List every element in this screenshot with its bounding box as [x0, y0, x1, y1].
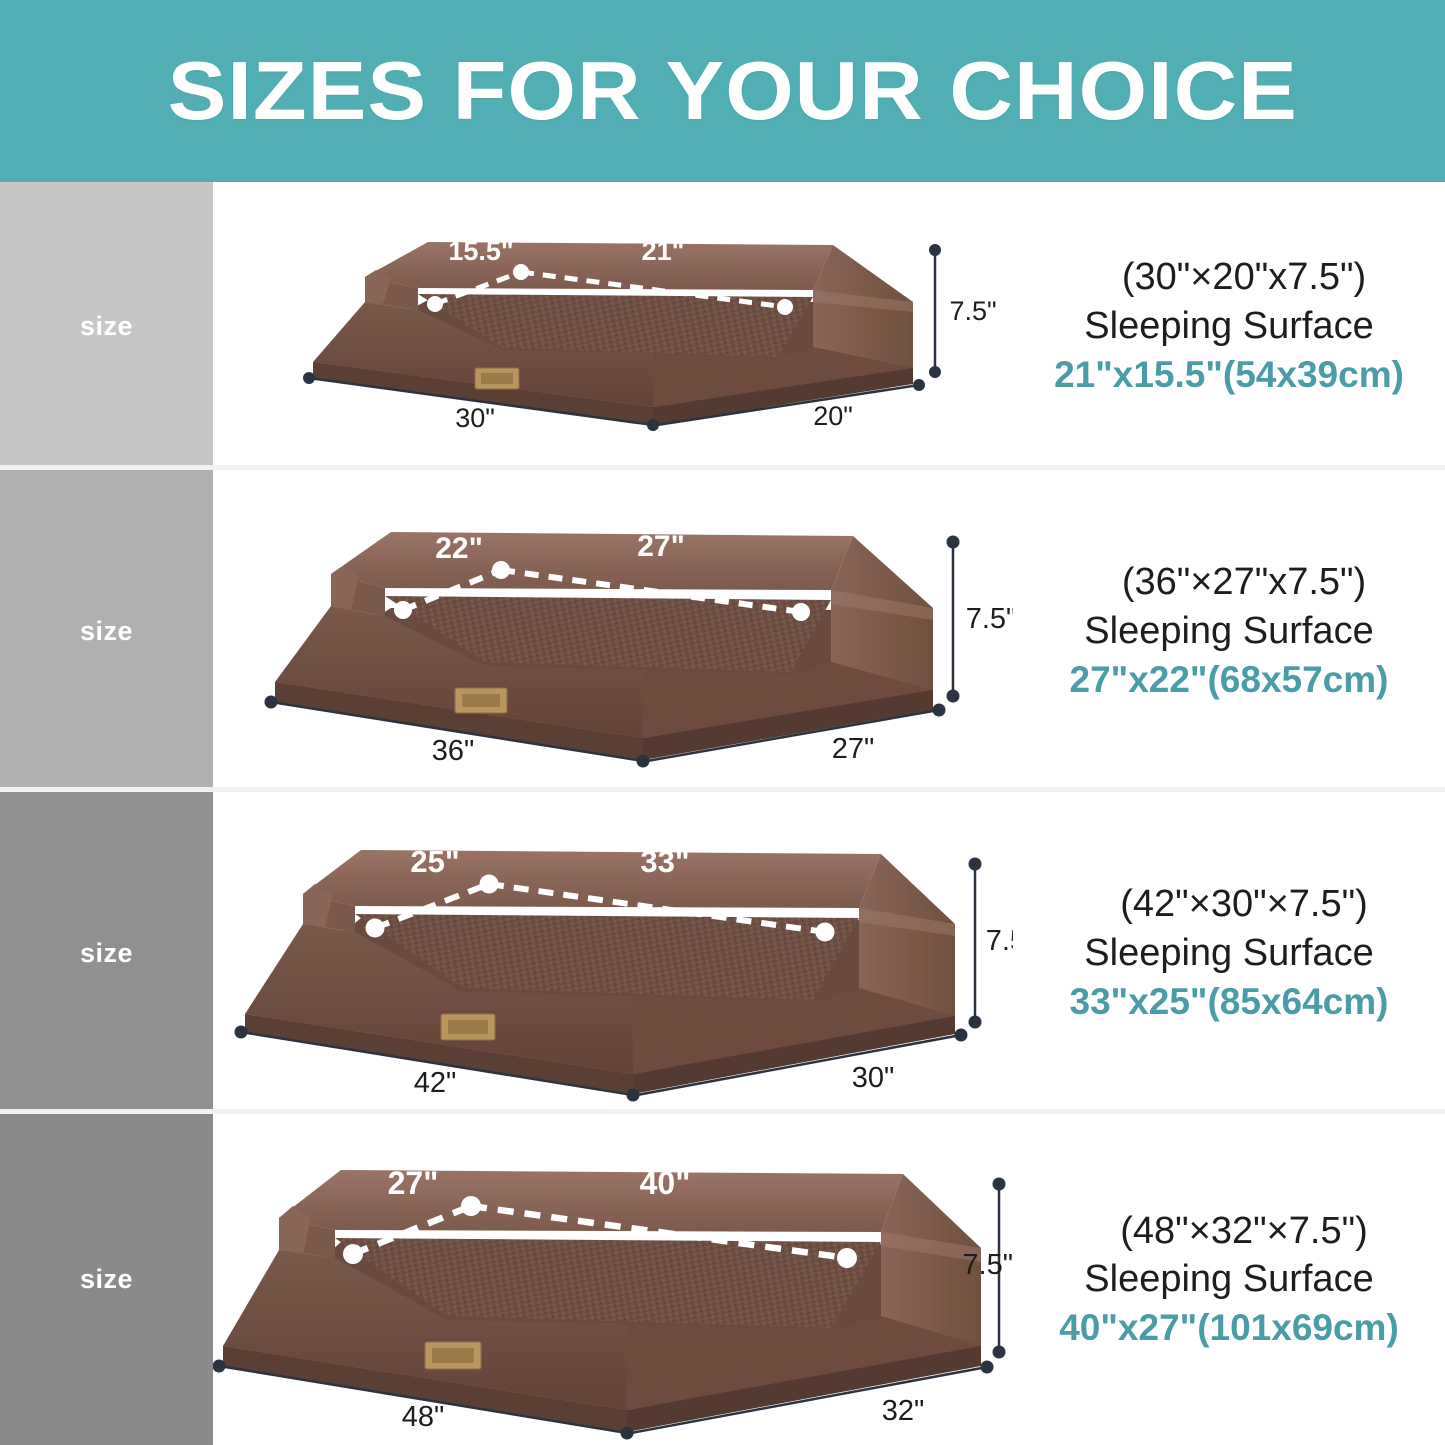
sleeping-surface-caption: Sleeping Surface [1084, 607, 1373, 656]
sleeping-surface-value: 40"x27"(101x69cm) [1059, 1304, 1399, 1352]
inner-depth-label: 22" [435, 532, 483, 565]
overall-dimensions: (48"×32"×7.5") [1090, 1207, 1368, 1256]
outer-depth-label: 30" [852, 1062, 895, 1094]
overall-dimensions: (36"×27"x7.5") [1092, 558, 1366, 607]
size-swatch-1: size [0, 182, 213, 470]
bed-illustration-2: 22" 27" 36" 27" 7.5" [213, 470, 1013, 792]
outer-depth-label: 32" [882, 1395, 925, 1427]
outer-depth-label: 20" [813, 401, 853, 431]
inner-depth-label: 25" [410, 844, 459, 879]
size-rows: size [0, 182, 1445, 1445]
outer-length-label: 30" [455, 403, 495, 433]
outer-length-label: 42" [414, 1067, 457, 1099]
overall-dimensions: (42"×30"×7.5") [1090, 880, 1368, 929]
inner-width-label: 27" [637, 530, 685, 563]
inner-depth-label: 27" [388, 1165, 439, 1201]
size-label: size [80, 311, 133, 342]
sleeping-surface-value: 33"x25"(85x64cm) [1070, 978, 1389, 1026]
size-info-2: (36"×27"x7.5") Sleeping Surface 27"x22"(… [1013, 470, 1445, 792]
inner-width-label: 21" [642, 236, 685, 266]
size-info-4: (48"×32"×7.5") Sleeping Surface 40"x27"(… [1013, 1114, 1445, 1445]
sleeping-surface-caption: Sleeping Surface [1084, 1255, 1373, 1304]
table-row: size [0, 1114, 1445, 1445]
bed-illustration-4: 27" 40" 48" 32" 7.5" [213, 1114, 1013, 1445]
outer-depth-label: 27" [832, 733, 875, 765]
page-title: SIZES FOR YOUR CHOICE [147, 43, 1299, 139]
size-swatch-4: size [0, 1114, 213, 1445]
inner-width-label: 33" [640, 844, 689, 879]
size-swatch-2: size [0, 470, 213, 792]
size-label: size [80, 1264, 133, 1295]
bed-illustration-3: 25" 33" 42" 30" 7.5" [213, 792, 1013, 1114]
size-swatch-3: size [0, 792, 213, 1114]
table-row: size [0, 470, 1445, 792]
inner-width-label: 40" [640, 1165, 691, 1201]
height-label: 7.5" [986, 925, 1013, 957]
size-label: size [80, 938, 133, 969]
table-row: size [0, 792, 1445, 1114]
size-chart-page: SIZES FOR YOUR CHOICE size [0, 0, 1445, 1445]
outer-length-label: 36" [432, 735, 475, 767]
table-row: size [0, 182, 1445, 470]
size-label: size [80, 616, 133, 647]
sleeping-surface-caption: Sleeping Surface [1084, 302, 1373, 351]
overall-dimensions: (30"×20"x7.5") [1092, 253, 1366, 302]
header-banner: SIZES FOR YOUR CHOICE [0, 0, 1445, 182]
sleeping-surface-caption: Sleeping Surface [1084, 929, 1373, 978]
outer-length-label: 48" [402, 1401, 445, 1433]
inner-depth-label: 15.5" [448, 236, 513, 266]
size-info-1: (30"×20"x7.5") Sleeping Surface 21"x15.5… [1013, 182, 1445, 470]
sleeping-surface-value: 21"x15.5"(54x39cm) [1054, 351, 1404, 399]
bed-illustration-1: 15.5" 21" 30" 20" 7.5" [213, 182, 1013, 470]
size-info-3: (42"×30"×7.5") Sleeping Surface 33"x25"(… [1013, 792, 1445, 1114]
height-label: 7.5" [962, 1249, 1013, 1281]
height-label: 7.5" [966, 603, 1013, 635]
height-label: 7.5" [949, 296, 996, 326]
sleeping-surface-value: 27"x22"(68x57cm) [1070, 656, 1389, 704]
